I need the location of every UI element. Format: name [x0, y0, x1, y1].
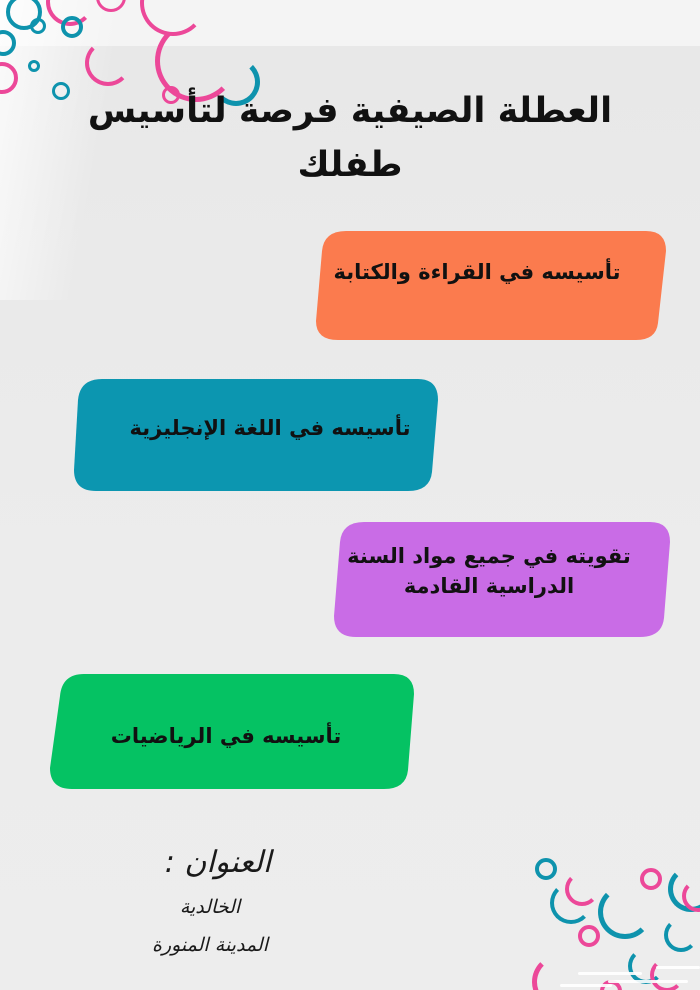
banner-english-language-label: تأسيسه في اللغة الإنجليزية: [130, 414, 411, 444]
bubble-teal-icon: [664, 918, 698, 952]
bubble-pink-icon: [85, 40, 131, 86]
bubble-teal-icon: [598, 885, 652, 939]
banner-reading-writing[interactable]: تأسيسه في القراءة والكتابة: [298, 229, 668, 342]
bubble-teal-icon: [30, 18, 46, 34]
banner-all-subjects[interactable]: تقويته في جميع مواد السنة الدراسية القاد…: [318, 520, 672, 640]
banner-english-language[interactable]: تأسيسه في اللغة الإنجليزية: [60, 376, 444, 494]
bubble-pink-icon: [650, 958, 684, 990]
address-district: الخالدية: [60, 896, 360, 918]
banner-reading-writing-label: تأسيسه في القراءة والكتابة: [333, 258, 620, 288]
address-block: العنوان : الخالدية المدينة المنورة: [60, 845, 360, 956]
bubble-teal-icon: [550, 882, 592, 924]
banner-mathematics-label: تأسيسه في الرياضيات: [111, 722, 342, 752]
poster-canvas: العطلة الصيفية فرصة لتأسيس طفلك تأسيسه ف…: [0, 0, 700, 990]
decorative-streak: [656, 966, 700, 969]
decorative-streak: [560, 984, 612, 987]
poster-title: العطلة الصيفية فرصة لتأسيس طفلك: [40, 84, 660, 193]
bubble-teal-icon: [28, 60, 40, 72]
banner-all-subjects-label: تقويته في جميع مواد السنة الدراسية القاد…: [338, 542, 640, 602]
bubble-teal-icon: [535, 858, 557, 880]
address-label: العنوان :: [68, 845, 368, 880]
address-city: المدينة المنورة: [60, 934, 360, 956]
decorative-streak: [608, 980, 688, 983]
bubble-pink-icon: [640, 868, 662, 890]
bubble-pink-icon: [578, 925, 600, 947]
decorative-streak: [578, 972, 642, 975]
bubble-teal-icon: [61, 16, 83, 38]
banner-mathematics[interactable]: تأسيسه في الرياضيات: [38, 670, 422, 792]
